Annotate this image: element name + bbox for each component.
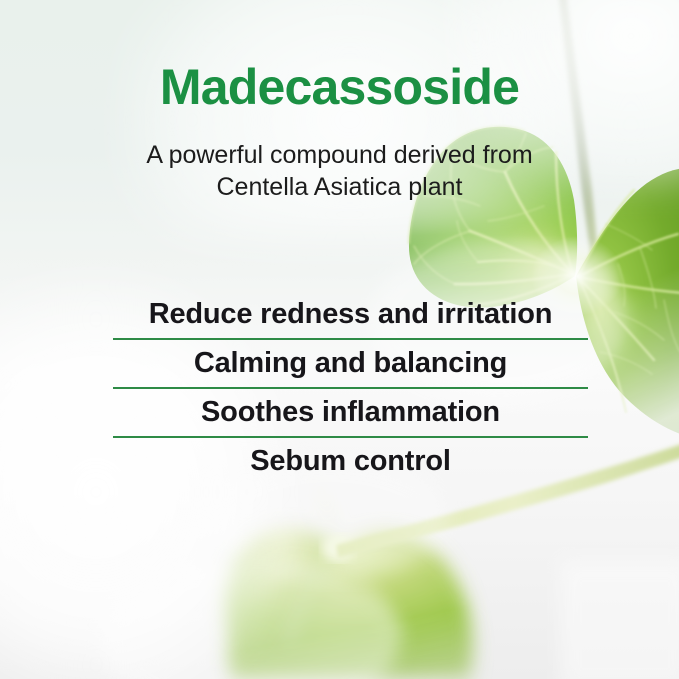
subtitle: A powerful compound derived from Centell… <box>60 139 619 203</box>
benefit-divider-3 <box>113 436 588 438</box>
benefit-item: Reduce redness and irritation <box>113 296 588 338</box>
benefit-label-4: Sebum control <box>113 443 588 485</box>
page-title: Madecassoside <box>0 62 679 112</box>
benefit-divider-1 <box>113 338 588 340</box>
ingredient-card: Madecassoside A powerful compound derive… <box>0 0 679 679</box>
benefit-label-2: Calming and balancing <box>113 345 588 387</box>
benefit-item: Sebum control <box>113 443 588 485</box>
benefit-item: Calming and balancing <box>113 345 588 387</box>
subtitle-line-1: A powerful compound derived from <box>60 139 619 171</box>
benefit-divider-2 <box>113 387 588 389</box>
text-content: Madecassoside A powerful compound derive… <box>0 0 679 679</box>
subtitle-line-2: Centella Asiatica plant <box>60 171 619 203</box>
benefit-item: Soothes inflammation <box>113 394 588 436</box>
benefits-list: Reduce redness and irritation Calming an… <box>113 296 588 485</box>
benefit-label-1: Reduce redness and irritation <box>113 296 588 338</box>
benefit-label-3: Soothes inflammation <box>113 394 588 436</box>
